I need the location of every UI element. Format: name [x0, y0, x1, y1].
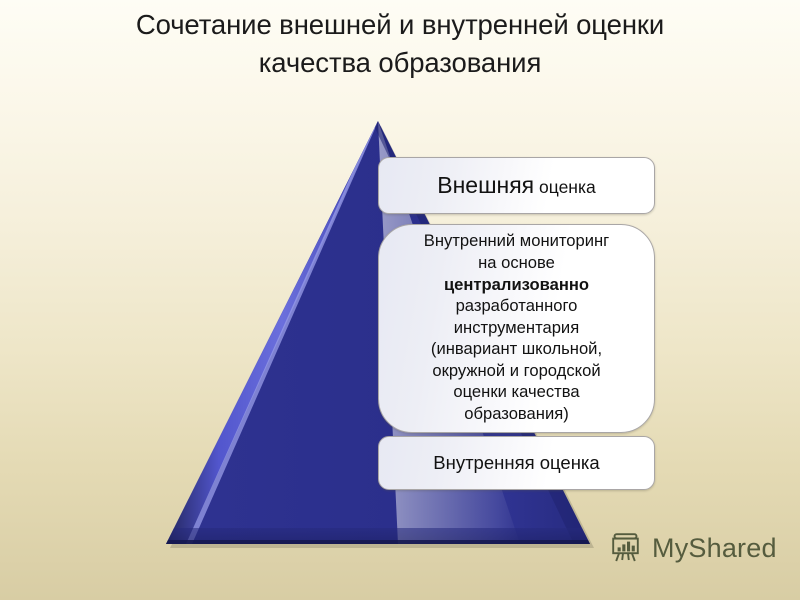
internal-assessment-label: Внутренняя оценка	[433, 454, 599, 473]
myshared-watermark[interactable]: MyShared	[610, 531, 777, 565]
internal-monitoring-text: Внутренний мониторинг на основе централи…	[424, 230, 610, 424]
external-assessment-emphasis: Внешняя	[437, 172, 534, 198]
callout-internal-assessment[interactable]: Внутренняя оценка	[378, 436, 655, 490]
slide-canvas: Сочетание внешней и внутренней оценки ка…	[0, 0, 800, 600]
monitoring-text-part1: Внутренний мониторинг на основе	[424, 231, 610, 272]
callout-external-assessment[interactable]: Внешняя оценка	[378, 157, 655, 214]
myshared-label: MyShared	[652, 535, 777, 562]
monitoring-text-bold: централизованно	[444, 275, 589, 294]
flipchart-bar-chart-icon	[610, 531, 644, 565]
callout-internal-monitoring[interactable]: Внутренний мониторинг на основе централи…	[378, 224, 655, 433]
external-assessment-suffix: оценка	[539, 177, 596, 197]
external-assessment-text: Внешняя оценка	[437, 174, 596, 197]
monitoring-text-part2: разработанного инструментария (инвариант…	[431, 296, 602, 423]
